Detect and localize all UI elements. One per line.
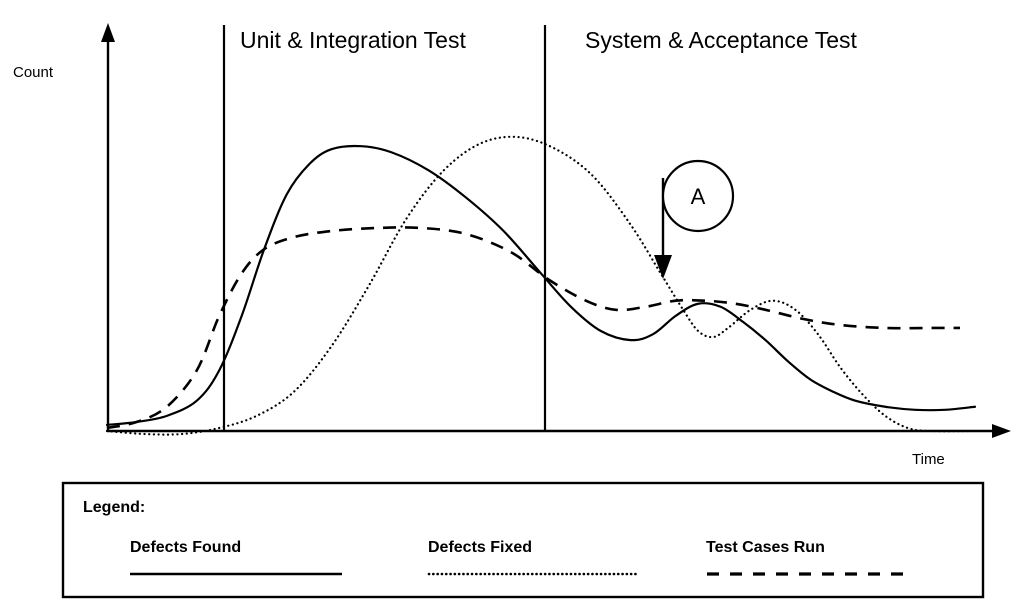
series-curve-defects-fixed: [107, 137, 975, 435]
series-curve-defects-found: [107, 146, 975, 425]
legend-item-defects-found: Defects Found: [130, 539, 342, 574]
callout-a-group[interactable]: A: [654, 161, 733, 279]
legend-heading: Legend:: [83, 499, 145, 516]
x-axis-arrowhead-icon: [992, 424, 1011, 438]
callout-a-label: A: [691, 184, 706, 209]
legend-item-test-cases-run: Test Cases Run: [706, 539, 912, 574]
legend-item-defects-fixed: Defects Fixed: [428, 539, 636, 574]
legend-item-label-defects-found: Defects Found: [130, 539, 241, 556]
x-axis-label: Time: [912, 451, 945, 468]
test-progress-diagram: Count Time Unit & Integration Test Syste…: [0, 0, 1024, 614]
legend-item-label-defects-fixed: Defects Fixed: [428, 539, 532, 556]
series-curve-test-cases-run: [107, 227, 960, 428]
phase-title-unit-integration: Unit & Integration Test: [240, 27, 466, 53]
legend: Legend: Defects Found Defects Fixed Test…: [63, 483, 983, 597]
legend-item-label-test-cases-run: Test Cases Run: [706, 539, 825, 556]
series-group: [107, 137, 975, 435]
y-axis-arrowhead-icon: [101, 23, 115, 42]
diagram-page: Count Time Unit & Integration Test Syste…: [0, 0, 1024, 614]
y-axis-label: Count: [13, 64, 54, 81]
phase-dividers-group: Unit & Integration Test System & Accepta…: [224, 25, 857, 432]
phase-title-system-acceptance: System & Acceptance Test: [585, 27, 857, 53]
